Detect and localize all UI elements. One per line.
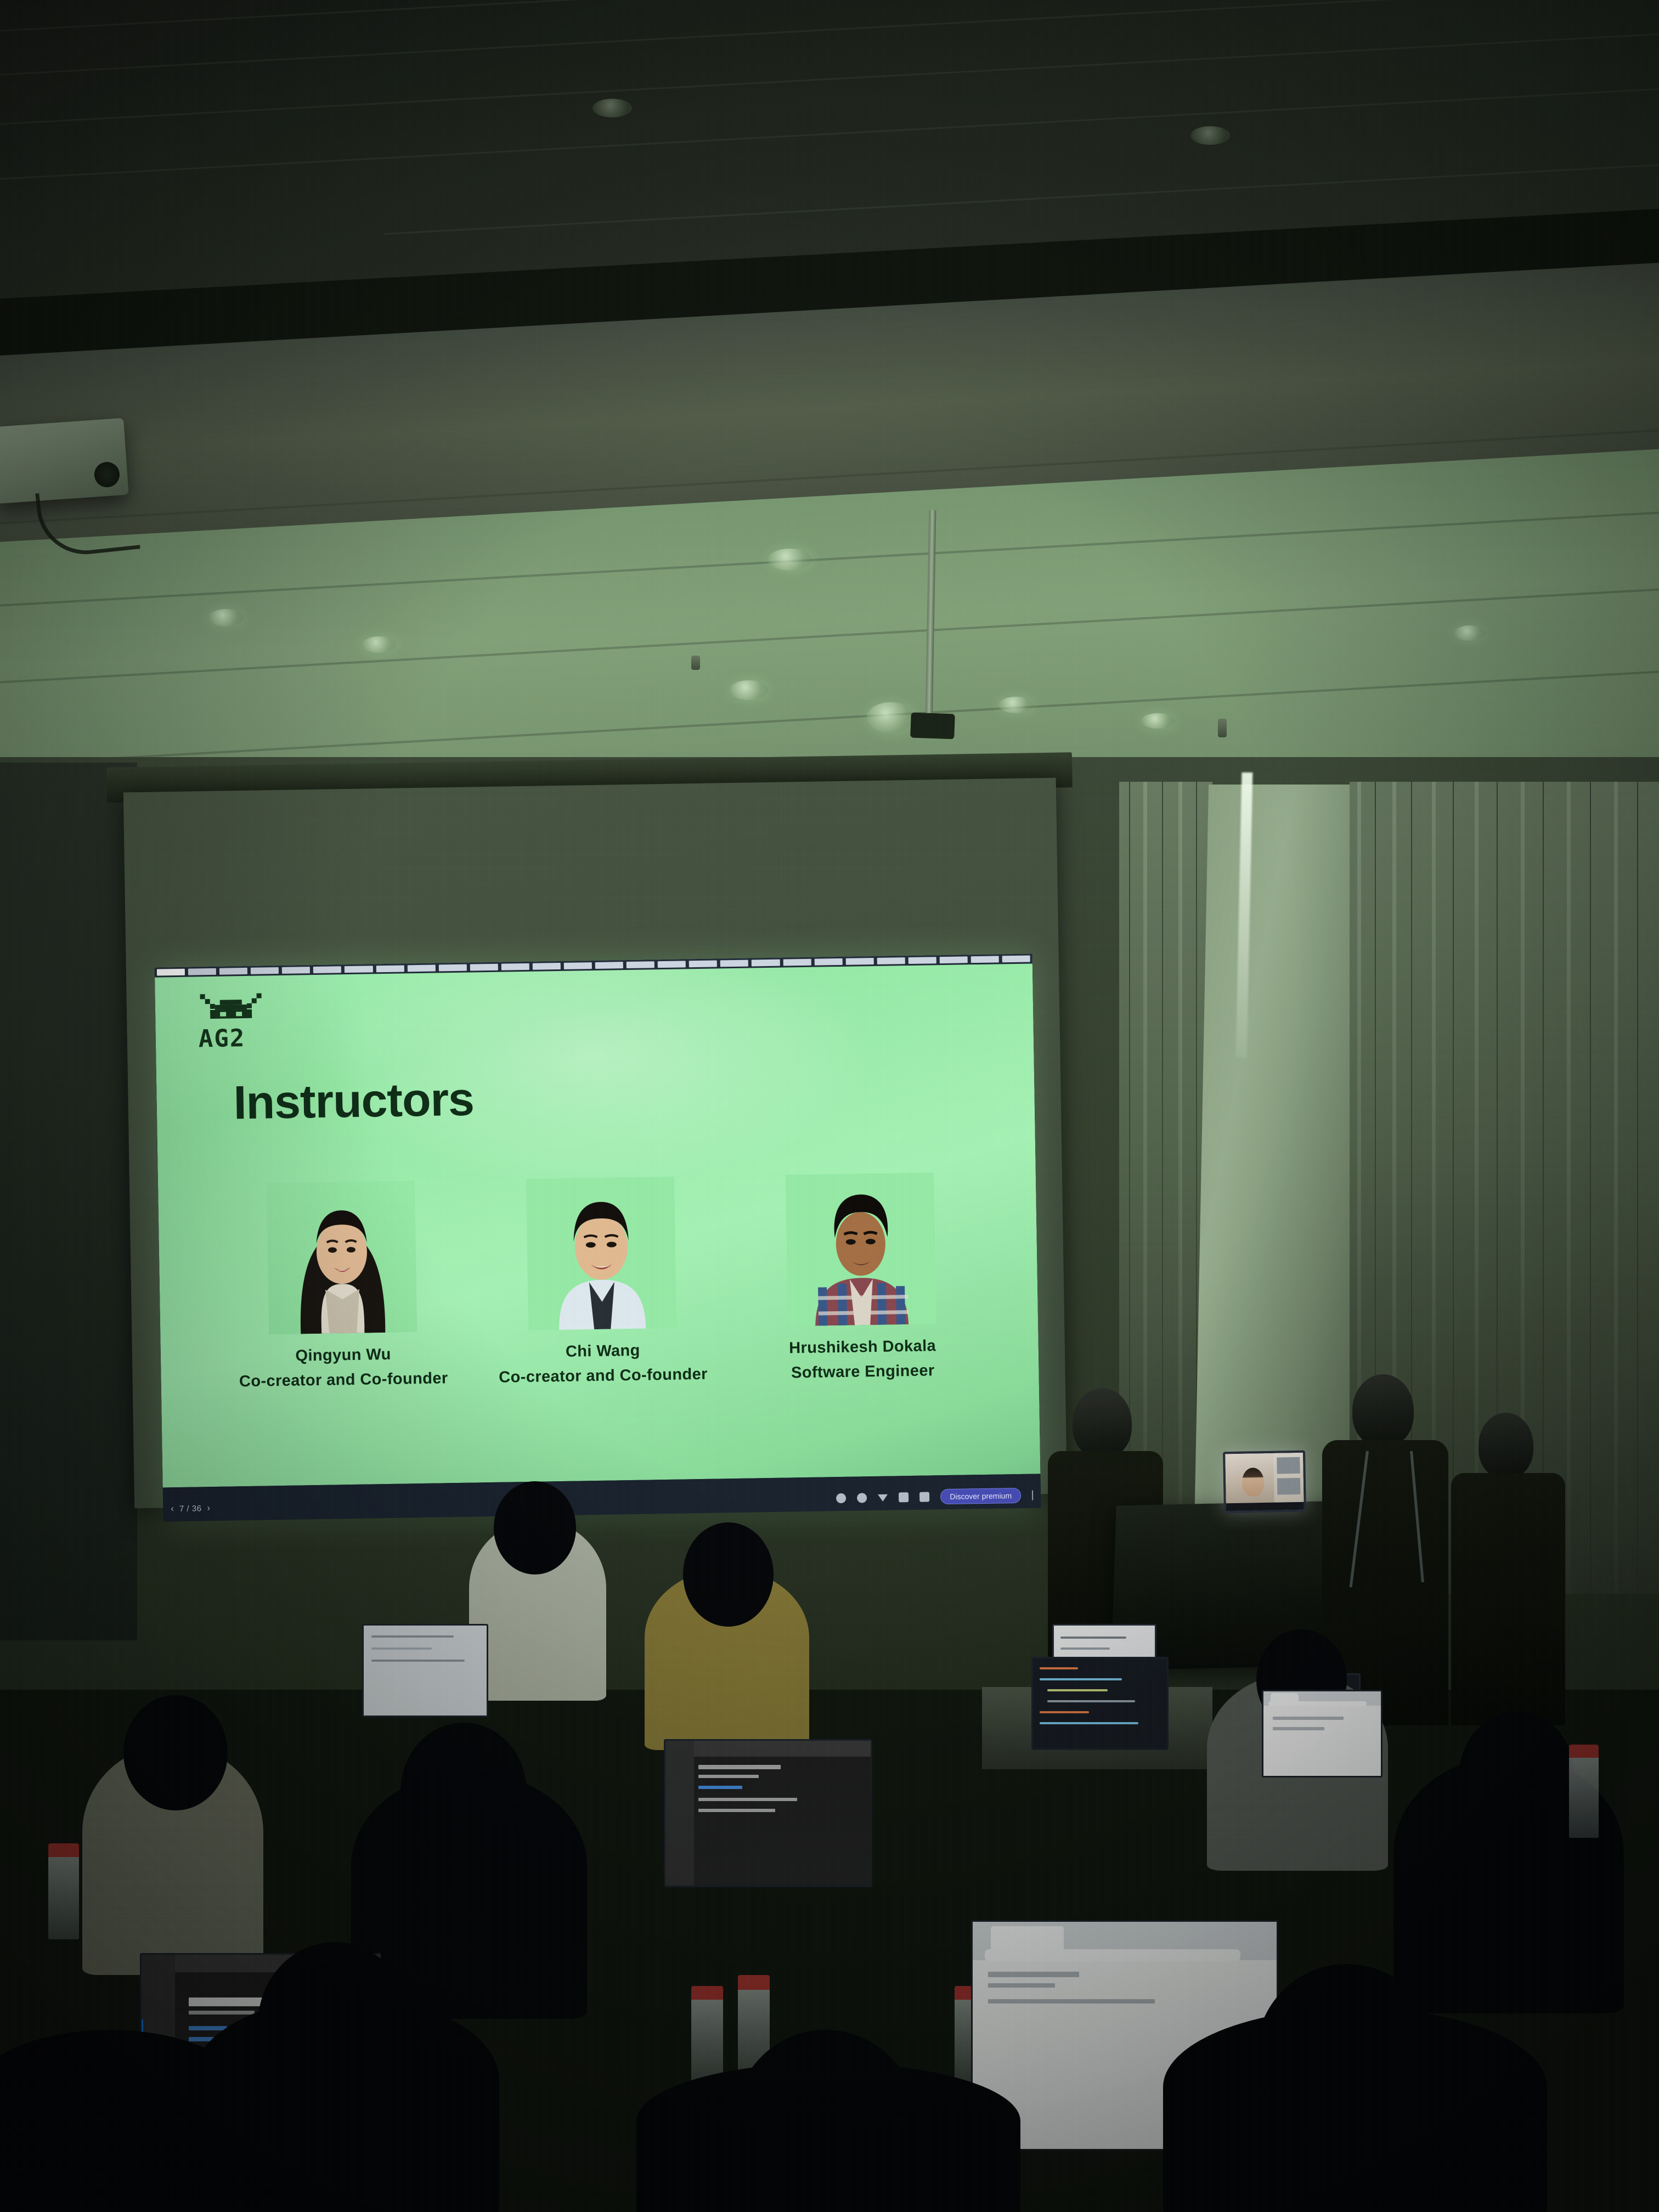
discover-premium-button[interactable]: Discover premium [940, 1488, 1021, 1504]
shortcuts-icon[interactable] [919, 1492, 929, 1502]
projected-presentation[interactable]: AG2 Instructors [155, 953, 1041, 1521]
downlight-icon [1454, 625, 1486, 641]
prev-slide-button[interactable]: ‹ [171, 1503, 174, 1514]
wall-column [1194, 785, 1368, 1531]
presenter-center-head [1352, 1374, 1414, 1447]
water-bottle [1569, 1745, 1599, 1838]
downlight-icon [730, 680, 768, 700]
laptop-vscode-wide [664, 1739, 872, 1887]
downlight-icon [867, 702, 914, 733]
pointer-icon[interactable] [899, 1492, 909, 1502]
downlight-icon [1141, 713, 1175, 729]
slide-thumbnail[interactable] [157, 969, 185, 976]
downlight-icon [208, 609, 244, 627]
ag2-wordmark: AG2 [198, 1026, 264, 1051]
slide-thumbnail[interactable] [251, 967, 279, 974]
ceiling-fixture-icon [592, 99, 632, 117]
slide-thumbnail[interactable] [1002, 956, 1030, 963]
ceiling-fixture-icon [1190, 126, 1230, 145]
video-call-controls[interactable] [1226, 1502, 1304, 1511]
slide-thumbnail[interactable] [345, 966, 373, 973]
laptop-docs [362, 1624, 488, 1717]
instructor-role: Software Engineer [791, 1362, 935, 1382]
audience-member-head [494, 1481, 576, 1575]
slide-thumbnail[interactable] [407, 965, 435, 972]
audience-member-head [258, 1942, 411, 2107]
slide-thumbnail[interactable] [376, 965, 404, 972]
ag2-robot-logo-icon: AG2 [198, 992, 265, 1051]
sprinkler-icon [691, 656, 700, 670]
headshot-chi-wang [526, 1177, 676, 1330]
slide-thumbnail[interactable] [971, 956, 999, 963]
downlight-icon [768, 549, 812, 571]
instructor-grid: Qingyun Wu Co-creator and Co-founder [211, 1172, 993, 1391]
projection-screen: AG2 Instructors [106, 752, 1084, 1541]
ceiling-upper-dark-panel [0, 0, 1659, 304]
laptop-browser-small [1262, 1690, 1383, 1778]
slide-thumbnail[interactable] [438, 964, 466, 972]
slide-thumbnail[interactable] [783, 959, 811, 966]
audience-member-head [683, 1522, 774, 1627]
podium-laptop [1223, 1451, 1306, 1514]
slide-thumbnail[interactable] [845, 958, 873, 965]
sprinkler-icon [1218, 719, 1227, 737]
slide-thumbnail[interactable] [470, 964, 498, 971]
instructor-name: Qingyun Wu [295, 1346, 391, 1365]
projector-lens-icon [93, 461, 120, 488]
presenter-left-head [1073, 1388, 1132, 1458]
audience-member-head [123, 1695, 228, 1810]
slide-thumbnail[interactable] [188, 968, 216, 975]
instructor-card: Chi Wang Co-creator and Co-founder [470, 1176, 733, 1387]
timer-icon[interactable] [857, 1493, 867, 1503]
conference-room-scene: AG2 Instructors [0, 0, 1659, 2212]
slide-thumbnail[interactable] [564, 962, 592, 969]
slide-counter[interactable]: 7 / 36 [179, 1504, 202, 1514]
instructor-name: Chi Wang [566, 1342, 640, 1361]
slide-thumbnail[interactable] [658, 961, 686, 968]
audience-member-head [735, 2030, 916, 2211]
notes-icon[interactable] [836, 1493, 846, 1503]
slide-canvas: AG2 Instructors [155, 953, 1041, 1487]
slide-thumbnail[interactable] [501, 963, 529, 970]
next-slide-button[interactable]: › [207, 1503, 210, 1514]
screen-surface: AG2 Instructors [123, 778, 1067, 1509]
slide-title: Instructors [233, 1072, 475, 1130]
instructor-card: Qingyun Wu Co-creator and Co-founder [211, 1180, 473, 1391]
reactions-icon[interactable] [878, 1494, 888, 1501]
downlight-icon [362, 636, 396, 653]
audience-member-head [400, 1723, 527, 1860]
laptop-terminal [1031, 1657, 1169, 1750]
audience-member [0, 2030, 252, 2212]
water-bottle [48, 1843, 79, 1939]
slide-thumbnail[interactable] [282, 967, 310, 974]
slide-thumbnail[interactable] [909, 957, 936, 964]
headshot-qingyun-wu [267, 1181, 417, 1334]
presenter-right-head [1479, 1413, 1533, 1479]
slide-thumbnail[interactable] [627, 961, 654, 968]
remote-participant-avatar [1242, 1468, 1265, 1497]
slide-thumbnail[interactable] [720, 960, 748, 967]
slide-thumbnail[interactable] [533, 963, 561, 970]
slide-thumbnail[interactable] [877, 957, 905, 964]
slide-thumbnail[interactable] [313, 966, 341, 973]
slide-thumbnail[interactable] [595, 962, 623, 969]
presenter-right-body [1451, 1473, 1565, 1725]
instructor-card: Hrushikesh Dokala Software Engineer [730, 1172, 993, 1383]
slide-thumbnail[interactable] [814, 958, 842, 966]
slide-thumbnail[interactable] [752, 960, 780, 967]
instructor-role: Co-creator and Co-founder [239, 1369, 448, 1391]
downlight-icon [998, 697, 1034, 713]
slide-thumbnail[interactable] [940, 956, 968, 963]
toolbar-divider [1032, 1491, 1033, 1500]
projector-mount-head [910, 713, 955, 740]
water-bottle [691, 1986, 723, 2085]
slide-thumbnail[interactable] [219, 968, 247, 975]
audience-member-head [1256, 1964, 1437, 2145]
headshot-hrushikesh-dokala [786, 1172, 936, 1326]
audience-member-head [1459, 1712, 1575, 1838]
instructor-role: Co-creator and Co-founder [499, 1365, 708, 1387]
instructor-name: Hrushikesh Dokala [789, 1337, 936, 1357]
slide-thumbnail[interactable] [689, 960, 717, 967]
